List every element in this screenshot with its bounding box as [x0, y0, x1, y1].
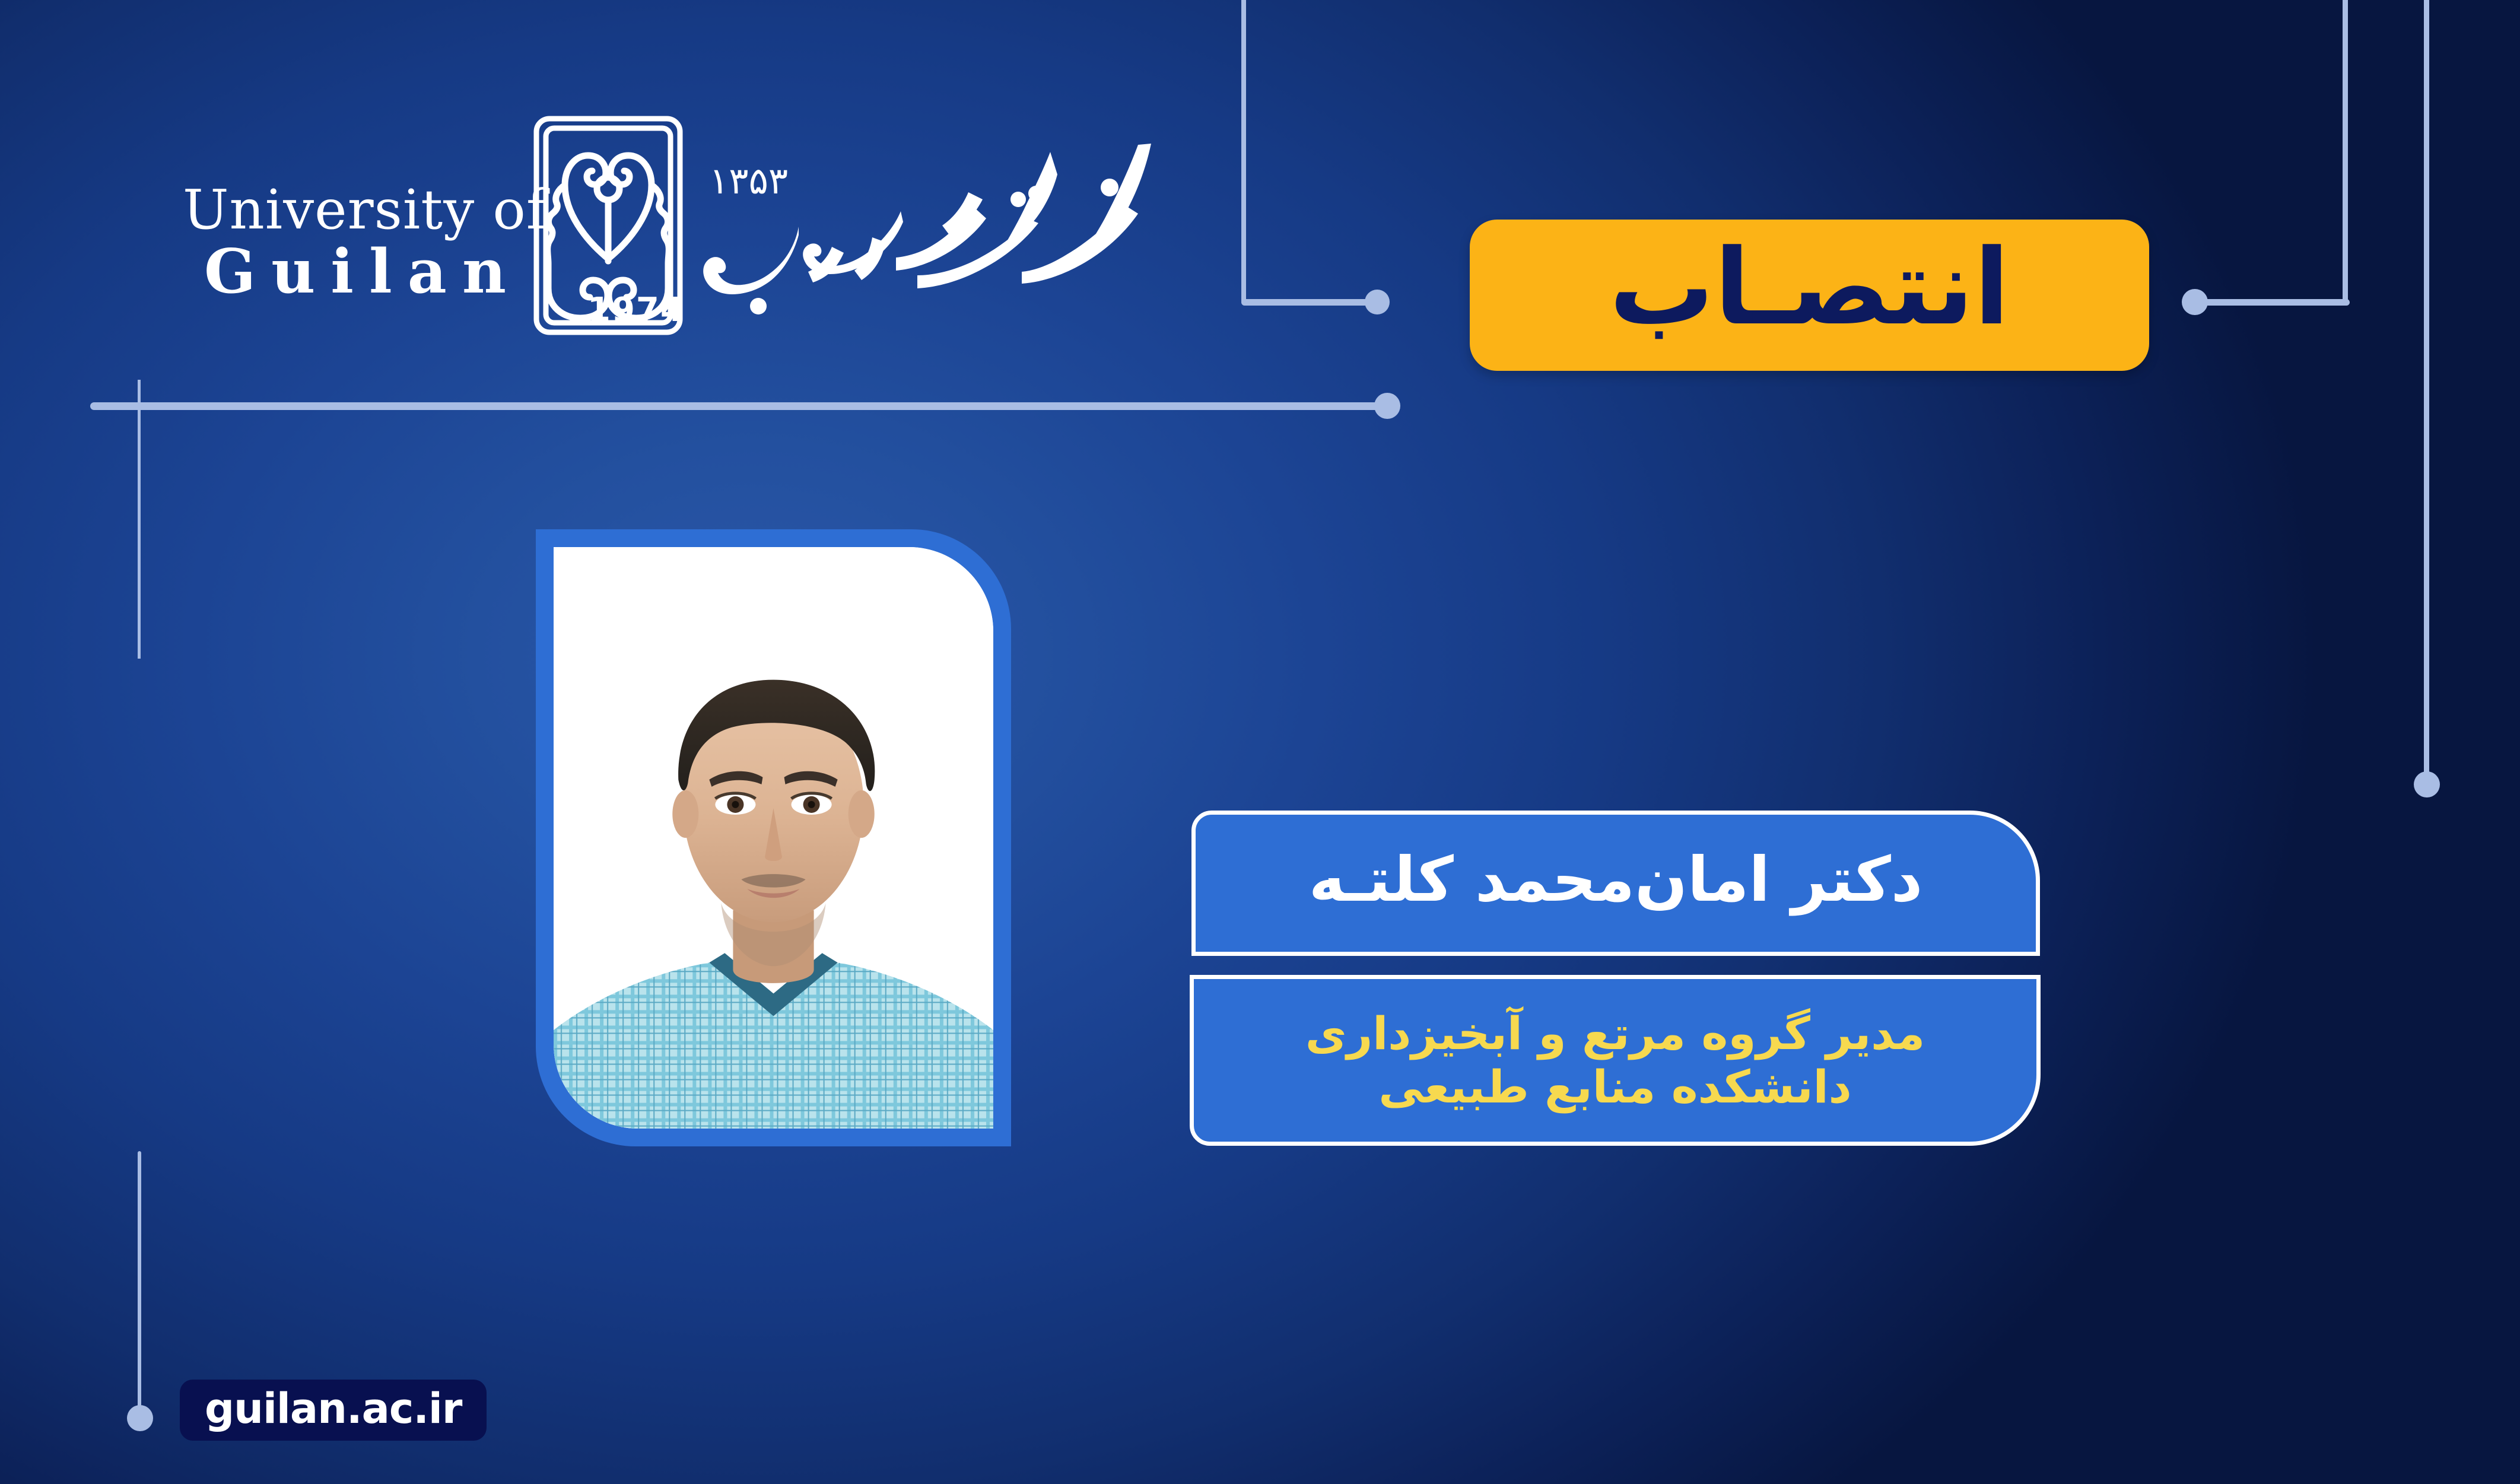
decor-dot-far-right-end	[2414, 771, 2440, 797]
guilan-butterfly-emblem-icon	[528, 113, 688, 338]
university-logo: 1974 University of Guilan	[172, 113, 1210, 368]
appointment-badge: انتصـاب	[1470, 220, 2149, 371]
poster-canvas: 1974 University of Guilan	[0, 0, 2520, 1484]
appointment-badge-label: انتصـاب	[1609, 236, 2010, 355]
decor-vline-far-right	[2424, 0, 2429, 777]
decor-vline-top-left	[138, 380, 141, 659]
person-name-banner: دکتر امان‌محمد کلتـه	[1191, 811, 2040, 956]
logo-english-name: University of Guilan	[183, 183, 515, 307]
person-name: دکتر امان‌محمد کلتـه	[1309, 849, 1922, 919]
decor-dot-top-mid-end	[1365, 290, 1390, 314]
person-title-banner: مدیر گروه مرتع و آبخیزداری دانشکده منابع…	[1190, 975, 2041, 1146]
website-url: guilan.ac.ir	[205, 1388, 462, 1433]
decor-hline-top-left	[90, 402, 1384, 410]
decor-vline-top-right	[2343, 0, 2348, 304]
portrait-frame	[536, 529, 1011, 1146]
decor-dot-top-right-end	[2182, 289, 2208, 315]
decor-dot-bottom-left-end	[127, 1405, 153, 1431]
logo-english-line-1: University of	[183, 183, 515, 237]
person-title-line-2: دانشکده منابع طبیعی	[1378, 1060, 1851, 1114]
logo-persian-name-calligraphy	[694, 131, 1187, 326]
decor-vline-bottom-left	[138, 1151, 141, 1406]
logo-english-line-2: Guilan	[183, 237, 515, 307]
person-title-line-1: مدیر گروه مرتع و آبخیزداری	[1305, 1007, 1925, 1060]
decor-hline-top-mid	[1241, 299, 1378, 306]
portrait-photo	[554, 547, 993, 1129]
decor-dot-top-left-end	[1374, 393, 1400, 419]
decor-vline-top-mid	[1241, 0, 1246, 304]
website-badge[interactable]: guilan.ac.ir	[180, 1380, 487, 1441]
decor-hline-top-right	[2204, 299, 2350, 306]
